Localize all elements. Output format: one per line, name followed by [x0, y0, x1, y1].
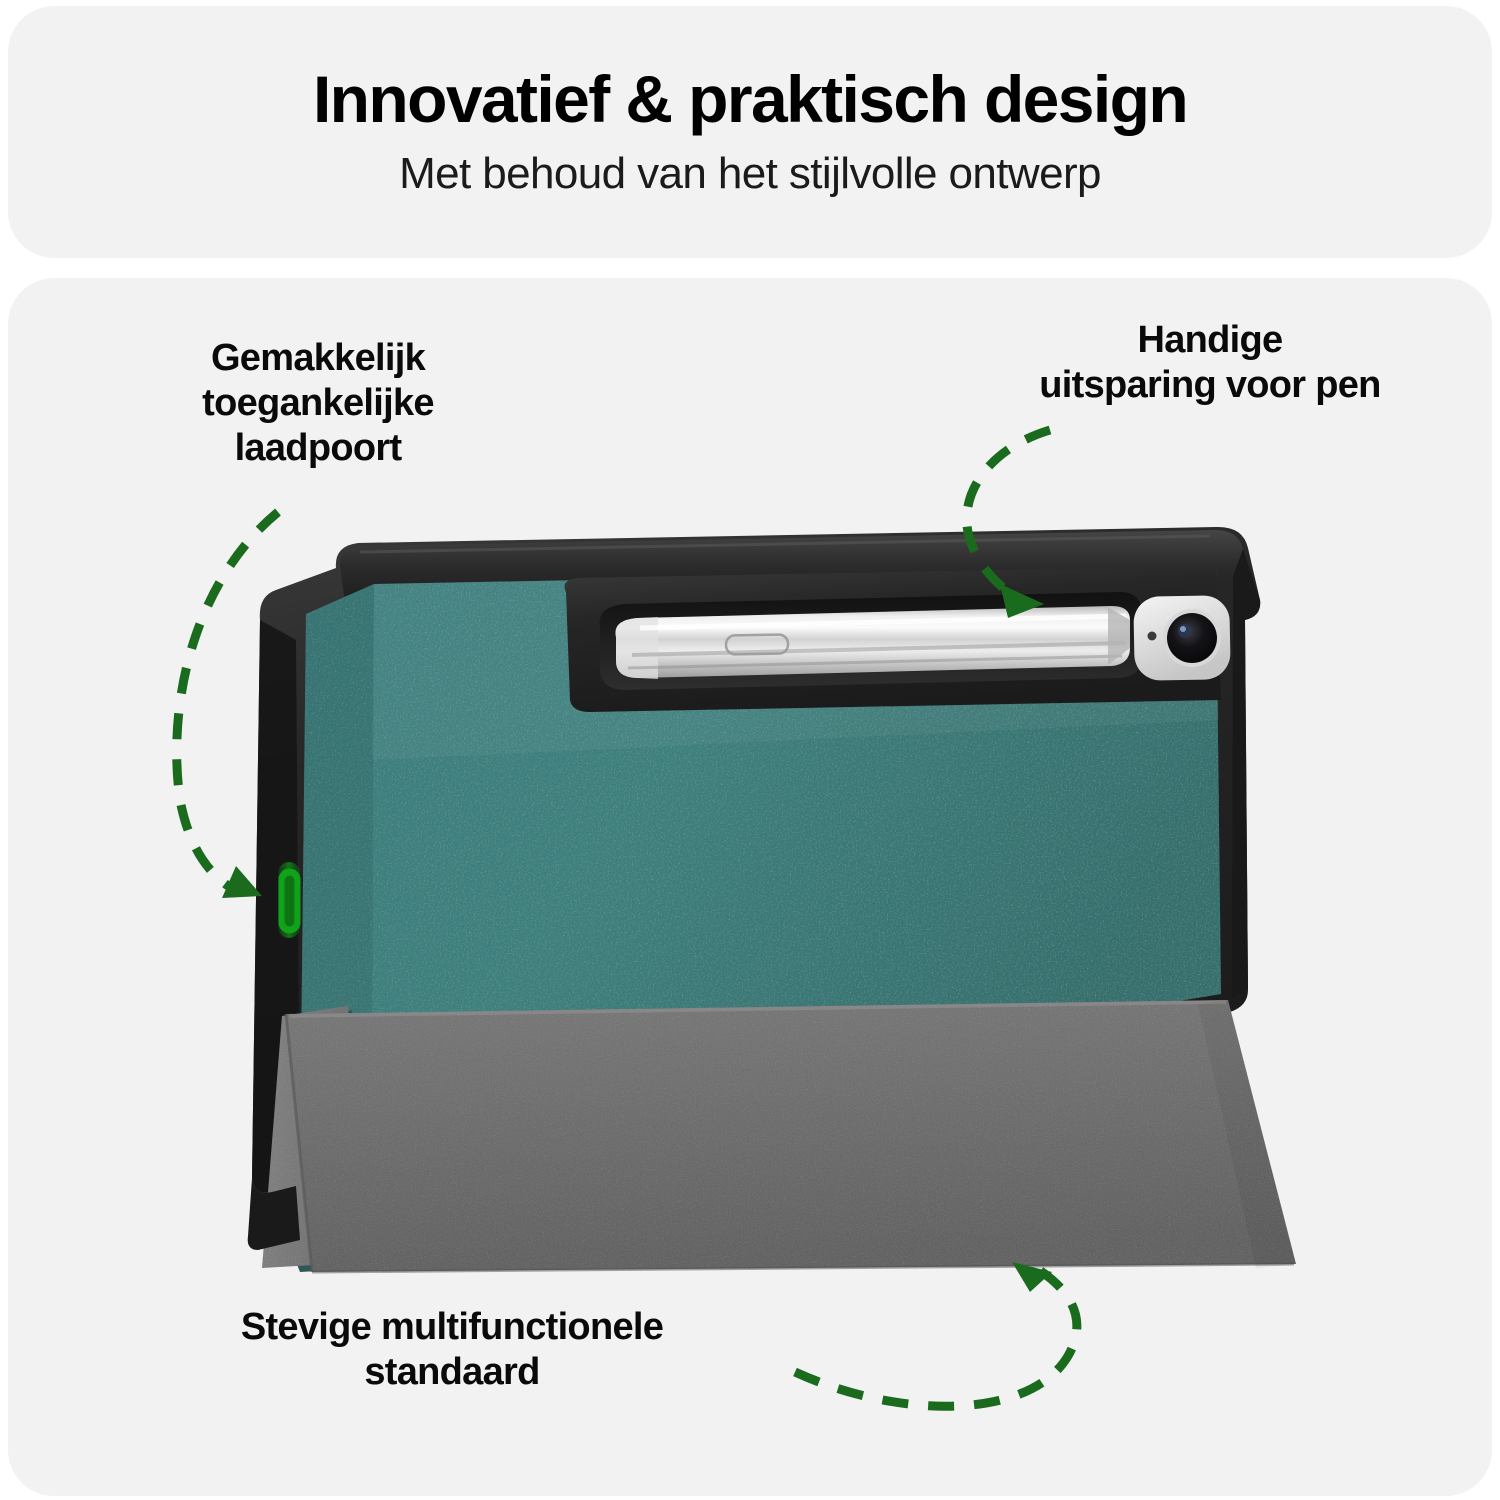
product-illustration: [0, 0, 1500, 1500]
callout-line: Gemakkelijk: [108, 336, 528, 381]
camera-cutout: [1133, 595, 1231, 681]
charging-port-cutout: [278, 862, 300, 938]
callout-line: standaard: [132, 1350, 772, 1395]
callout-label-stand: Stevige multifunctionele standaard: [132, 1305, 772, 1395]
callout-label-charging-port: Gemakkelijk toegankelijke laadpoort: [108, 336, 528, 470]
infographic-page: Innovatief & praktisch design Met behoud…: [0, 0, 1500, 1500]
camera-lens-icon: [1167, 613, 1217, 663]
callout-line: uitsparing voor pen: [960, 363, 1460, 408]
callout-label-pen-slot: Handige uitsparing voor pen: [960, 318, 1460, 408]
callout-line: Handige: [960, 318, 1460, 363]
camera-flash-icon: [1148, 632, 1157, 641]
callout-line: laadpoort: [108, 426, 528, 471]
callout-line: toegankelijke: [108, 381, 528, 426]
callout-line: Stevige multifunctionele: [132, 1305, 772, 1350]
stand-panel: [262, 1000, 1296, 1272]
